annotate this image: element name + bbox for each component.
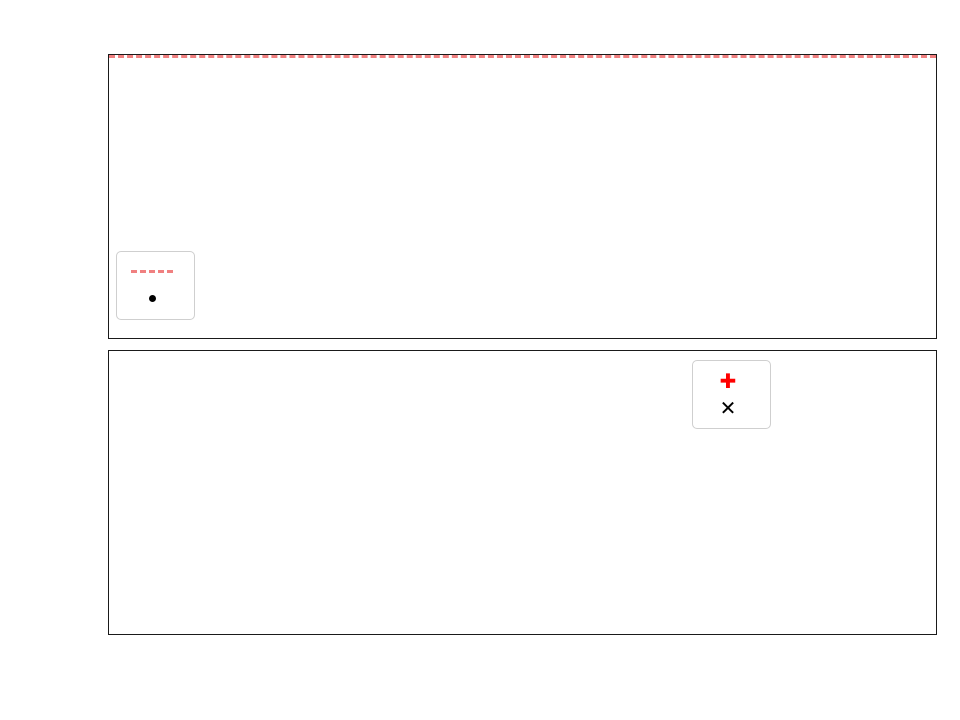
legend-item-threshold[interactable] [127, 258, 183, 285]
legend-item-measurements[interactable] [127, 285, 183, 312]
top-scatter-points [109, 55, 936, 338]
figure-canvas: ✚ ✕ [0, 0, 960, 720]
bottom-scatter-points [109, 351, 936, 634]
plus-marker-icon: ✚ [703, 371, 753, 391]
legend-item-predicted-stars[interactable]: ✕ [703, 394, 759, 421]
top-panel-axes [108, 54, 937, 339]
bottom-panel-legend: ✚ ✕ [692, 360, 771, 429]
legend-item-matched-stars[interactable]: ✚ [703, 367, 759, 394]
dashed-line-icon [127, 270, 177, 273]
bottom-panel-axes [108, 350, 937, 635]
dot-marker-icon [127, 295, 177, 302]
top-panel-legend [116, 251, 195, 320]
cross-marker-icon: ✕ [703, 398, 753, 418]
